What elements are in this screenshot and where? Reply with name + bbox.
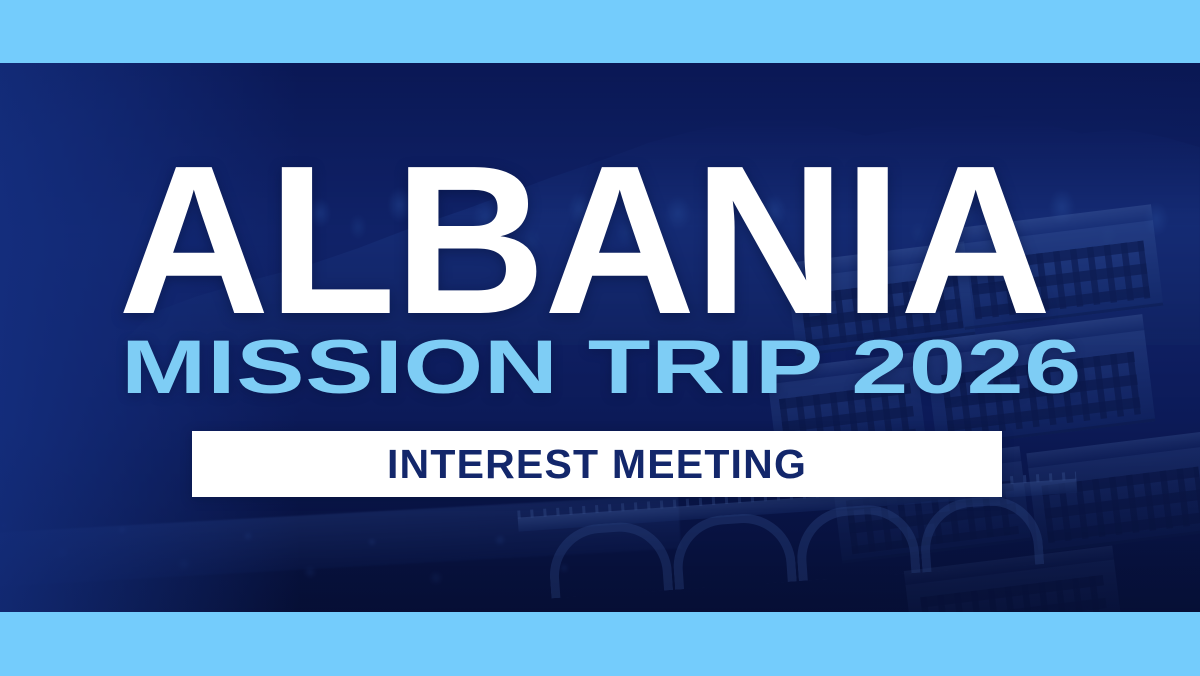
ribbon-label: INTEREST MEETING [387, 441, 807, 488]
mission-trip-poster: ALBANIA MISSION TRIP 2026 INTEREST MEETI… [0, 0, 1200, 676]
interest-meeting-ribbon: INTEREST MEETING [192, 431, 1002, 497]
top-color-band [0, 0, 1200, 63]
text-layer: ALBANIA MISSION TRIP 2026 INTEREST MEETI… [0, 0, 1200, 676]
page-title: ALBANIA [118, 134, 1070, 346]
bottom-color-band [0, 612, 1200, 676]
subtitle: MISSION TRIP 2026 [121, 330, 1082, 406]
